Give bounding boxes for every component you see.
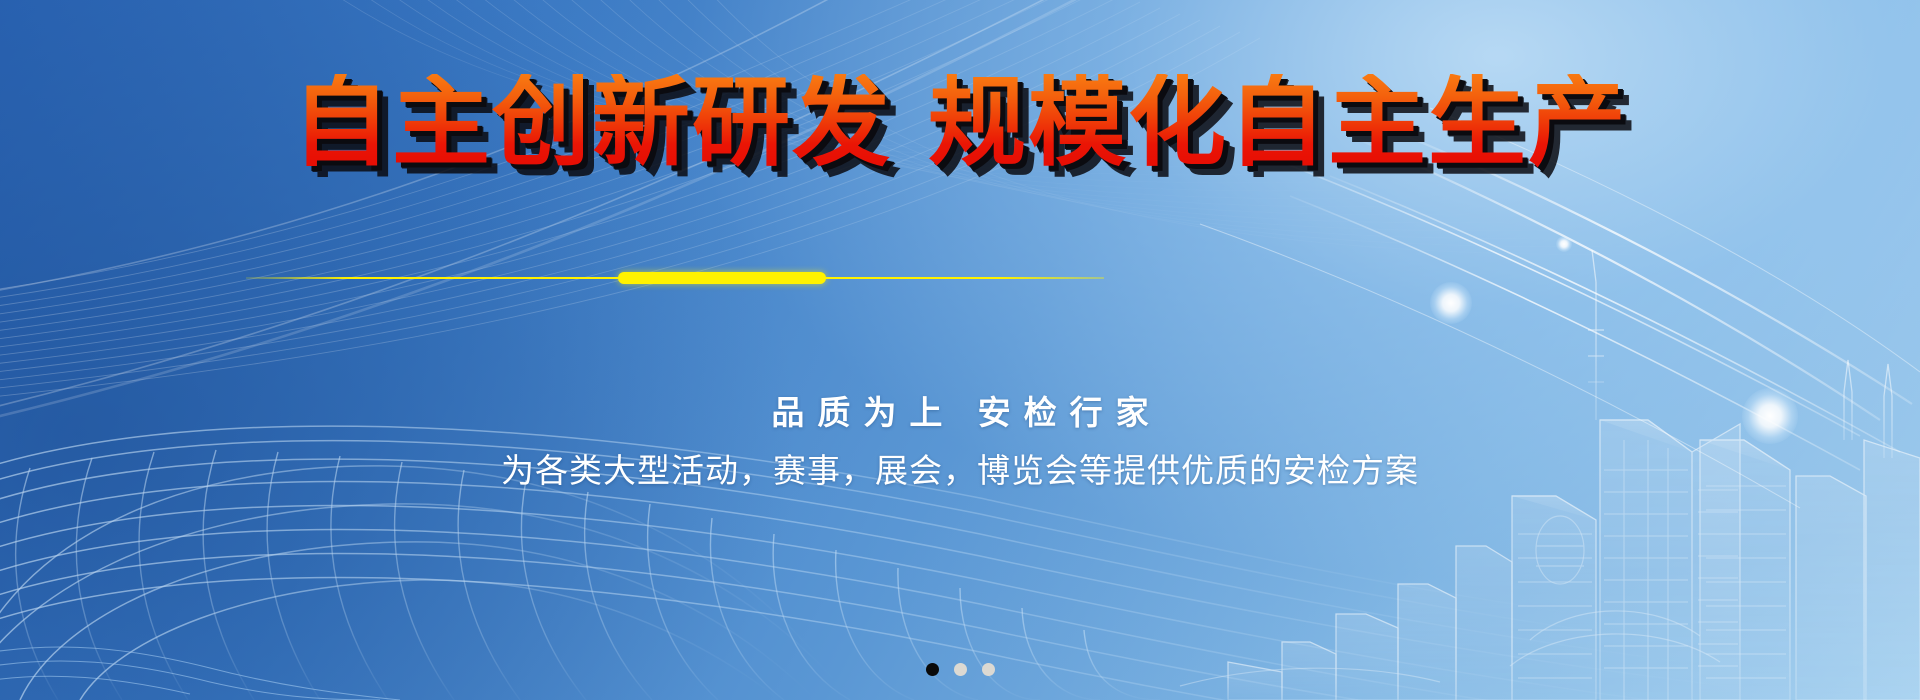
carousel-dot-1[interactable]: [926, 663, 939, 676]
subtitle-secondary: 为各类大型活动，赛事，展会，博览会等提供优质的安检方案: [0, 444, 1920, 492]
carousel-dot-2[interactable]: [954, 663, 967, 676]
carousel-dot-3[interactable]: [982, 663, 995, 676]
subtitle-primary: 品质为上 安检行家: [0, 386, 1920, 434]
title-divider: [246, 272, 1104, 284]
hero-banner: 自主创新研发 规模化自主生产 品质为上 安检行家 为各类大型活动，赛事，展会，博…: [0, 0, 1920, 700]
banner-content: 自主创新研发 规模化自主生产 品质为上 安检行家 为各类大型活动，赛事，展会，博…: [0, 0, 1920, 700]
page-title: 自主创新研发 规模化自主生产: [0, 74, 1920, 172]
carousel-dots: [0, 663, 1920, 676]
divider-thick-segment: [618, 272, 826, 284]
